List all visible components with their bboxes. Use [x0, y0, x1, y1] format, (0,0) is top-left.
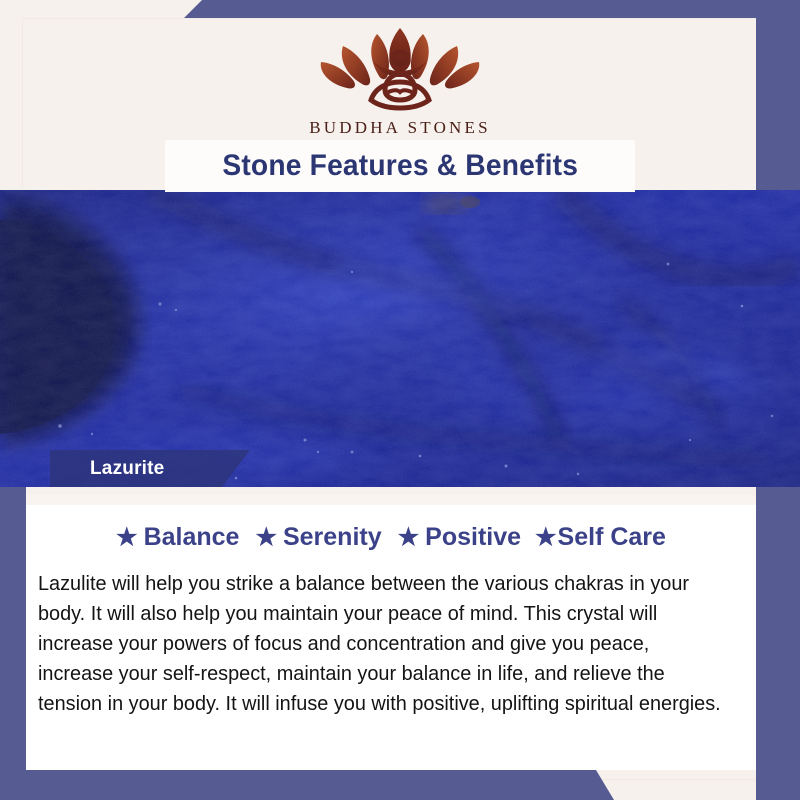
left-accent-band: [0, 487, 26, 777]
star-icon: ★: [535, 526, 557, 550]
brand-logo: BUDDHA STONES: [0, 22, 800, 138]
keyword-label: Balance: [144, 523, 240, 552]
star-icon: ★: [116, 526, 138, 550]
stone-name-band: Lazurite: [50, 450, 250, 487]
page-title: Stone Features & Benefits: [222, 149, 578, 183]
bottom-accent-band: [0, 770, 800, 800]
keyword-item: ★ Balance: [116, 523, 239, 552]
keyword-item: ★ Positive: [382, 523, 521, 552]
top-accent-band: [0, 0, 756, 18]
lotus-meditation-figure-icon: [305, 22, 495, 114]
star-icon: ★: [398, 526, 420, 550]
card-top-divider: [26, 495, 756, 505]
brand-name: BUDDHA STONES: [0, 118, 800, 138]
keyword-label: Self Care: [558, 523, 666, 552]
title-panel: Stone Features & Benefits: [165, 140, 635, 192]
keyword-list: ★ Balance ★ Serenity ★ Positive ★ Self C…: [26, 523, 756, 552]
star-icon: ★: [255, 526, 277, 550]
description-text: Lazulite will help you strike a balance …: [38, 569, 725, 719]
keyword-item: ★ Serenity: [239, 523, 381, 552]
keyword-label: Positive: [425, 523, 521, 552]
stone-name: Lazurite: [90, 458, 164, 480]
content-card: ★ Balance ★ Serenity ★ Positive ★ Self C…: [26, 495, 756, 770]
keyword-item: ★ Self Care: [521, 523, 666, 552]
lazurite-texture-graphic: [0, 190, 800, 487]
stone-photo: [0, 190, 800, 487]
poster: BUDDHA STONES Stone Features & Benefits: [0, 0, 800, 800]
keyword-label: Serenity: [283, 523, 382, 552]
